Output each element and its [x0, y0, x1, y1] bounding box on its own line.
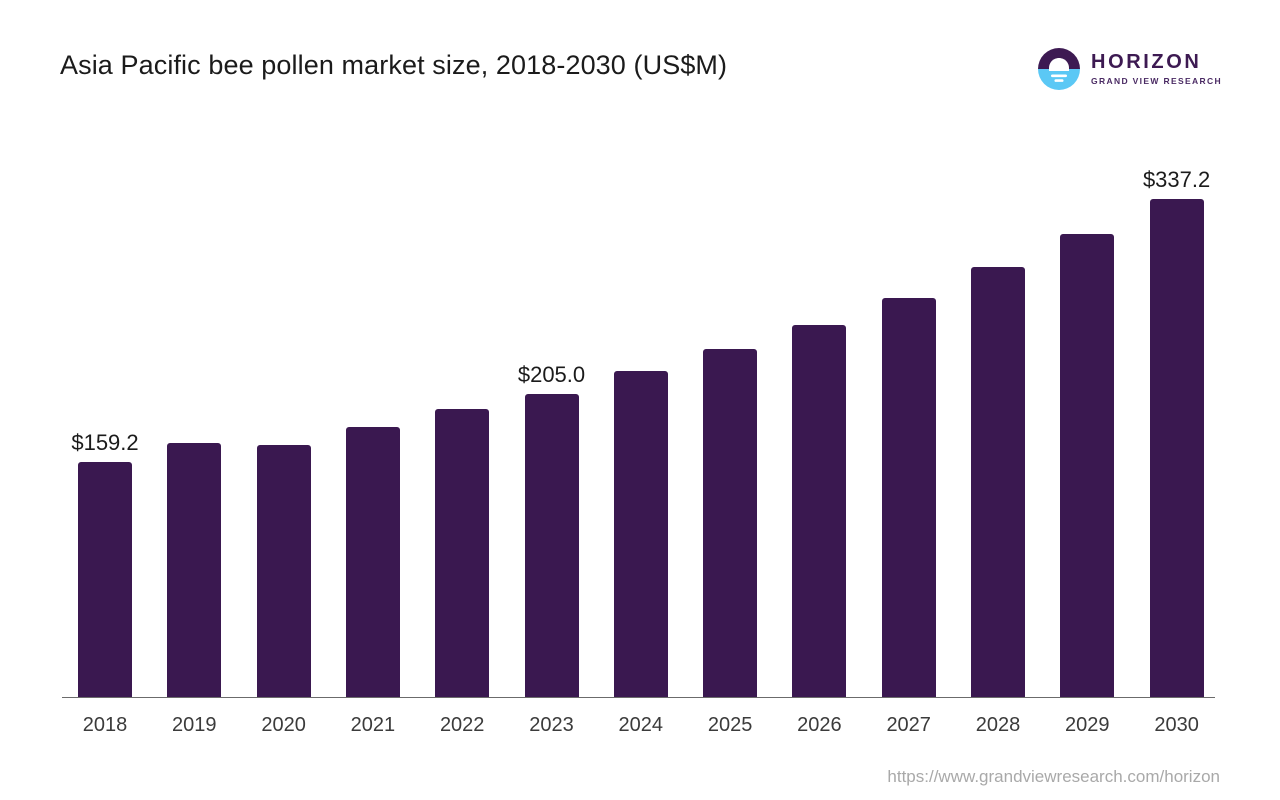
- x-tick-2029: 2029: [1042, 713, 1132, 737]
- bar-2027[interactable]: [882, 298, 936, 697]
- bar-value-label-2018: $159.2: [25, 431, 185, 455]
- bar-chart-plot: $159.2$205.0$337.2 201820192020202120222…: [0, 0, 1280, 800]
- chart-page: Asia Pacific bee pollen market size, 201…: [0, 0, 1280, 800]
- bar-value-label-2023: $205.0: [472, 363, 632, 387]
- x-tick-2027: 2027: [864, 713, 954, 737]
- bar-2029[interactable]: [1060, 234, 1114, 698]
- bar-2018[interactable]: [78, 462, 132, 697]
- x-tick-2021: 2021: [328, 713, 418, 737]
- source-url[interactable]: https://www.grandviewresearch.com/horizo…: [887, 767, 1220, 787]
- bar-2022[interactable]: [435, 409, 489, 697]
- x-tick-2025: 2025: [685, 713, 775, 737]
- x-tick-2024: 2024: [596, 713, 686, 737]
- x-tick-2020: 2020: [239, 713, 329, 737]
- bar-2020[interactable]: [257, 445, 311, 697]
- x-tick-2022: 2022: [417, 713, 507, 737]
- bar-2023[interactable]: [525, 394, 579, 697]
- x-tick-2028: 2028: [953, 713, 1043, 737]
- bar-2025[interactable]: [703, 349, 757, 697]
- bar-2019[interactable]: [167, 443, 221, 697]
- bar-2024[interactable]: [614, 371, 668, 697]
- x-tick-2018: 2018: [60, 713, 150, 737]
- bar-value-label-2030: $337.2: [1097, 168, 1257, 192]
- bar-2030[interactable]: [1150, 199, 1204, 697]
- x-tick-2026: 2026: [774, 713, 864, 737]
- x-tick-2019: 2019: [149, 713, 239, 737]
- bar-2021[interactable]: [346, 427, 400, 697]
- bar-2028[interactable]: [971, 267, 1025, 697]
- x-axis-line: [62, 697, 1215, 698]
- bar-2026[interactable]: [792, 325, 846, 697]
- x-tick-2030: 2030: [1132, 713, 1222, 737]
- x-tick-2023: 2023: [507, 713, 597, 737]
